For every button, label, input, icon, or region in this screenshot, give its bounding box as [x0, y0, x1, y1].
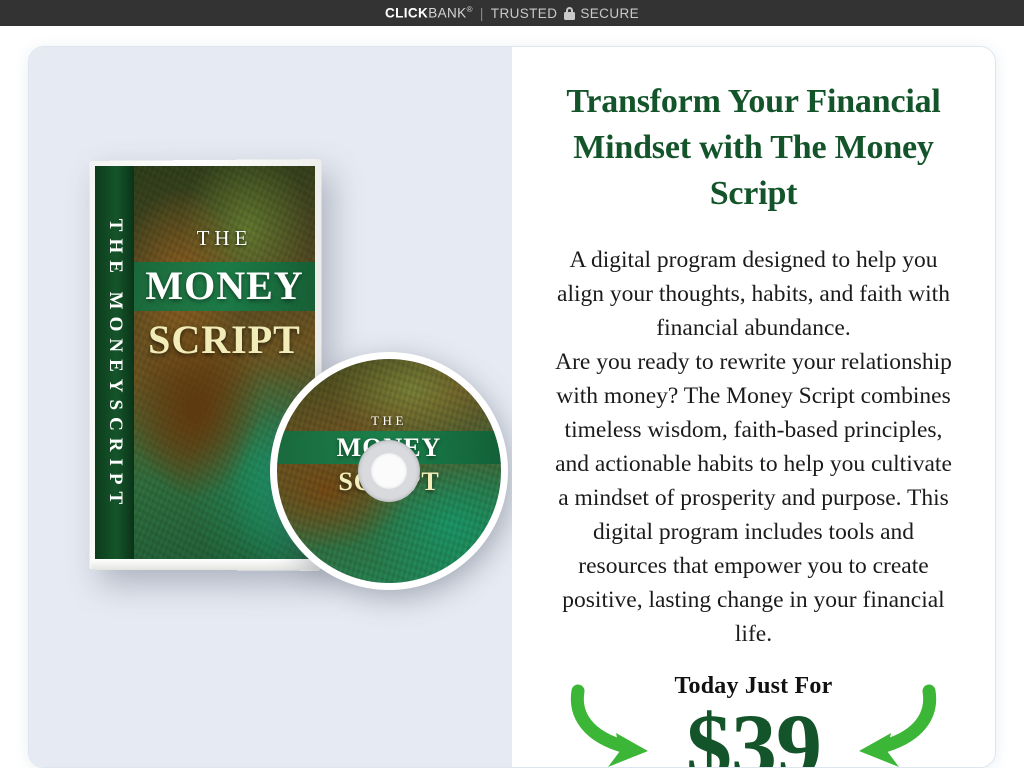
disc-title-the: THE [277, 413, 501, 429]
product-image-panel: THE MONEYSCRIPT THE MONEY SCRIPT [29, 47, 512, 767]
page-title: Transform Your Financial Mindset with Th… [544, 79, 963, 217]
clickbank-logo: CLICKBANK® [385, 5, 473, 21]
offer-card: THE MONEYSCRIPT THE MONEY SCRIPT [28, 46, 996, 768]
arrow-curved-left-icon [833, 681, 943, 767]
lock-icon [564, 7, 575, 20]
offer-description: A digital program designed to help you a… [540, 243, 967, 651]
offer-paragraph-2: Are you ready to rewrite your relationsh… [550, 345, 957, 651]
offer-copy-panel: Transform Your Financial Mindset with Th… [512, 47, 995, 767]
disc-center-hole [371, 453, 407, 489]
trustbar-secure-label: SECURE [580, 6, 639, 21]
book-title-the: THE [134, 226, 315, 251]
product-mockup: THE MONEYSCRIPT THE MONEY SCRIPT [29, 47, 512, 767]
book-title-script: SCRIPT [134, 316, 315, 363]
clickbank-trust-bar: CLICKBANK® | TRUSTED SECURE [0, 0, 1024, 26]
price-block: Today Just For $39 [540, 673, 967, 767]
trustbar-separator: | [480, 6, 484, 21]
book-spine-title: THE MONEYSCRIPT [104, 219, 126, 511]
clickbank-logo-light: BANK [428, 6, 466, 21]
arrow-curved-right-icon [564, 681, 674, 767]
offer-paragraph-1: A digital program designed to help you a… [550, 243, 957, 345]
trustbar-trusted-label: TRUSTED [491, 6, 558, 21]
registered-mark: ® [467, 5, 473, 14]
book-title-money: MONEY [134, 264, 315, 308]
disc-center-hub [358, 440, 420, 502]
page-body: THE MONEYSCRIPT THE MONEY SCRIPT [0, 26, 1024, 768]
cd-disc-image: THE MONEY SCRIPT [270, 352, 508, 590]
clickbank-logo-bold: CLICK [385, 6, 428, 21]
disc-face: THE MONEY SCRIPT [277, 359, 501, 583]
book-spine: THE MONEYSCRIPT [95, 166, 134, 564]
